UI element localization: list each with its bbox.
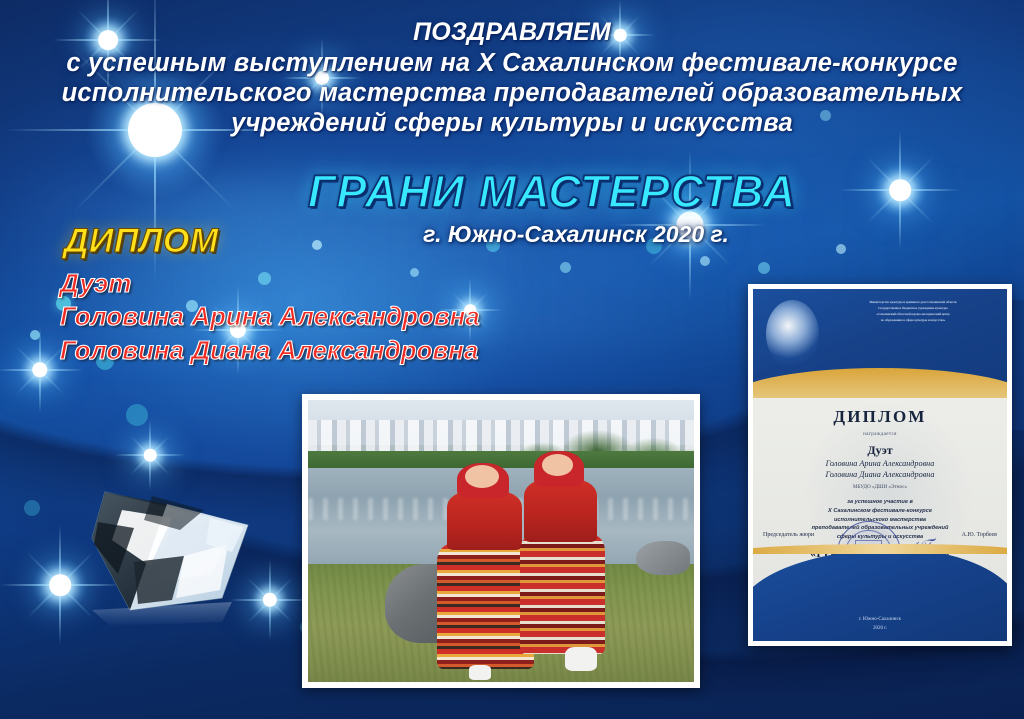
congratulation-block: ПОЗДРАВЛЯЕМ с успешным выступлением на X… (0, 18, 1024, 138)
diploma-certificate[interactable]: Министерство культуры и архивного дела С… (748, 284, 1012, 646)
signature-name: А.Ю. Торбеев (962, 532, 997, 538)
award-block: ДИПЛОМ Дуэт Головина Арина Александровна… (60, 222, 480, 367)
award-ensemble: Дуэт (60, 267, 480, 300)
certificate-year: 2020 г. (753, 625, 1007, 634)
certificate-title: ДИПЛОМ (759, 407, 1001, 427)
congrats-line-1: с успешным выступлением на X Сахалинском… (0, 48, 1024, 78)
certificate-city: г. Южно-Сахалинск (753, 616, 1007, 625)
certificate-school: МБУДО «ДШИ «Этнос» (759, 484, 1001, 490)
award-kind-label: ДИПЛОМ (64, 222, 480, 261)
bokeh-dot (24, 500, 40, 516)
certificate-recipient-1: Головина Арина Александровна (759, 458, 1001, 470)
bokeh-dot (126, 404, 148, 426)
certificate-header: Министерство культуры и архивного дела С… (753, 289, 1007, 398)
bokeh-dot (758, 262, 770, 274)
award-recipient-1: Головина Арина Александровна (60, 300, 480, 333)
congrats-heading: ПОЗДРАВЛЯЕМ (0, 18, 1024, 48)
bokeh-dot (700, 256, 710, 266)
photo-content (308, 400, 694, 682)
ministry-lines: Министерство культуры и архивного дела С… (829, 299, 997, 323)
poster-canvas: ПОЗДРАВЛЯЕМ с успешным выступлением на X… (0, 0, 1024, 719)
congrats-line-3: учреждений сферы культуры и искусства (0, 108, 1024, 138)
ministry-emblem-icon (766, 300, 819, 368)
photo-performer-2 (520, 454, 617, 674)
certificate-reason-line-2: X Сахалинском фестивале-конкурсе (759, 507, 1001, 516)
photo-rock-secondary (636, 541, 690, 575)
certificate-ensemble: Дуэт (759, 443, 1001, 458)
signature-role: Председатель жюри (763, 532, 814, 538)
certificate-awarded-label: награждается (759, 432, 1001, 437)
certificate-inner: Министерство культуры и архивного дела С… (753, 289, 1007, 641)
certificate-reason-line-1: за успешное участие в (759, 498, 1001, 507)
congrats-line-2: исполнительского мастерства преподавател… (0, 78, 1024, 108)
ministry-line-4: по образованию в сфере культуры и искусс… (829, 317, 997, 323)
festival-title: ГРАНИ МАСТЕРСТВА (0, 166, 1024, 218)
bokeh-dot (560, 262, 571, 273)
bokeh-dot (30, 330, 40, 340)
award-recipient-2: Головина Диана Александровна (60, 334, 480, 367)
diamond-icon (72, 470, 267, 630)
performance-photo (302, 394, 700, 688)
certificate-recipient-2: Головина Диана Александровна (759, 469, 1001, 481)
certificate-city-year: г. Южно-Сахалинск 2020 г. (753, 616, 1007, 633)
